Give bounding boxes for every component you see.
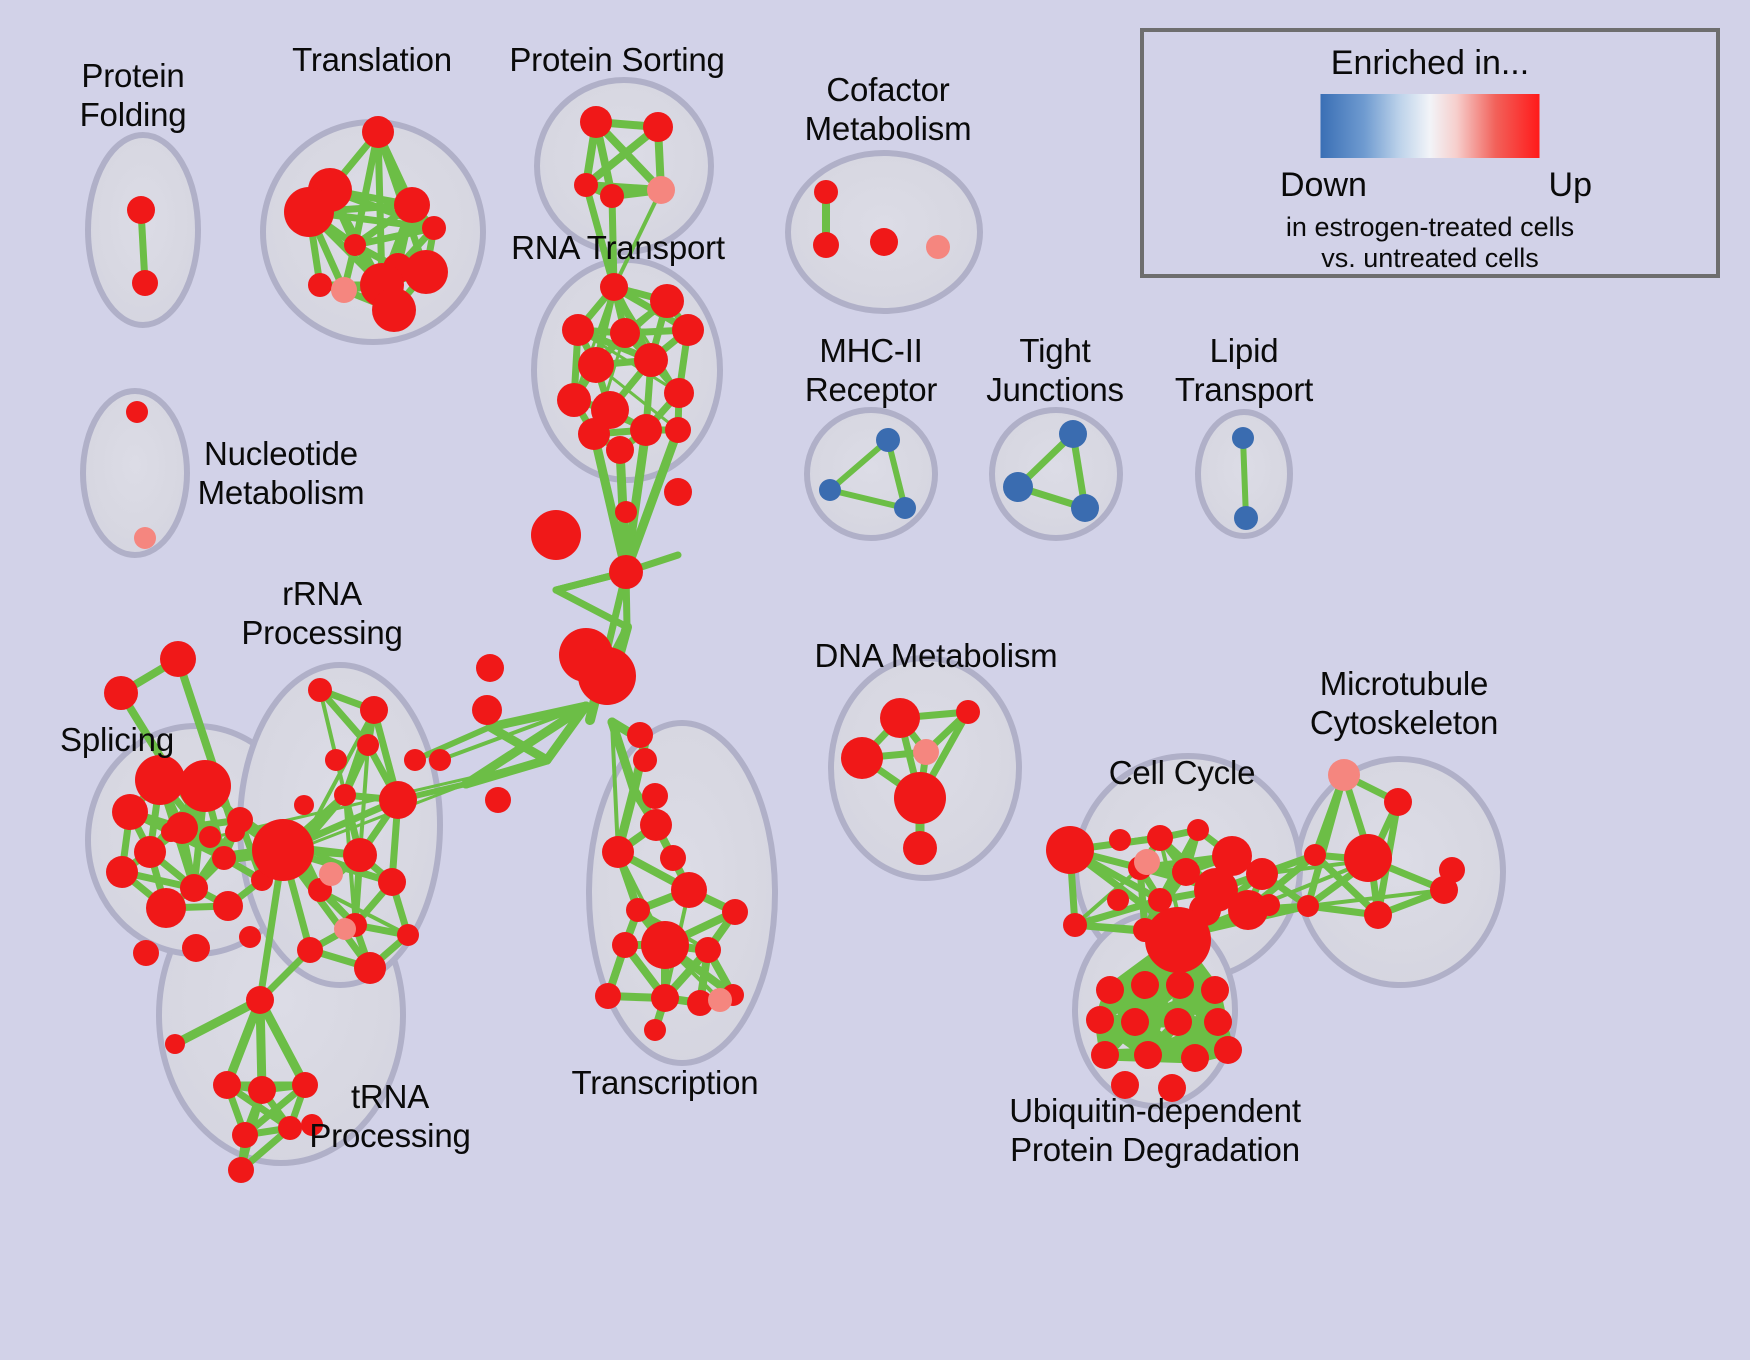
legend-sublabel: in estrogen-treated cells vs. untreated …	[1144, 212, 1716, 274]
node	[1214, 1036, 1242, 1064]
node-down	[1071, 494, 1099, 522]
node	[578, 647, 636, 705]
node	[1201, 976, 1229, 1004]
node	[814, 180, 838, 204]
cluster-label-microtubule-cytoskeleton: Microtubule Cytoskeleton	[1310, 664, 1498, 742]
node	[880, 698, 920, 738]
cluster-label-protein-folding: Protein Folding	[80, 56, 187, 134]
node	[1344, 834, 1392, 882]
node	[379, 781, 417, 819]
node	[1364, 901, 1392, 929]
node	[472, 695, 502, 725]
node	[1246, 858, 1278, 890]
node	[225, 822, 245, 842]
cluster-label-cell-cycle: Cell Cycle	[1109, 753, 1256, 792]
node	[372, 288, 416, 332]
node-weak	[1134, 849, 1160, 875]
cluster-label-nucleotide-metabolism: Nucleotide Metabolism	[198, 434, 365, 512]
node	[394, 187, 430, 223]
node	[695, 937, 721, 963]
node	[1131, 971, 1159, 999]
node	[1145, 907, 1211, 973]
node	[1148, 888, 1172, 912]
node	[640, 809, 672, 841]
cluster-label-tight-junctions: Tight Junctions	[986, 331, 1124, 409]
node	[578, 347, 614, 383]
node	[1439, 857, 1465, 883]
node	[1086, 1006, 1114, 1034]
node-down	[1059, 420, 1087, 448]
node	[165, 1034, 185, 1054]
node	[362, 116, 394, 148]
node	[615, 501, 637, 523]
node	[1107, 889, 1129, 911]
node	[630, 414, 662, 446]
node	[297, 937, 323, 963]
node	[841, 737, 883, 779]
node-down	[1232, 427, 1254, 449]
node	[1134, 1041, 1162, 1069]
node	[1091, 1041, 1119, 1069]
node	[562, 314, 594, 346]
node	[343, 838, 377, 872]
node	[634, 343, 668, 377]
node	[284, 187, 334, 237]
cluster-label-splicing: Splicing	[60, 720, 174, 759]
node	[1204, 1008, 1232, 1036]
node	[664, 478, 692, 506]
legend-color-gradient-bar	[1321, 94, 1540, 158]
node-weak	[331, 277, 357, 303]
cluster-label-rna-transport: RNA Transport	[511, 228, 725, 267]
legend-down-label: Down	[1280, 166, 1367, 205]
node	[404, 749, 426, 771]
node-weak	[319, 862, 343, 886]
node-down	[876, 428, 900, 452]
node	[651, 984, 679, 1012]
node	[378, 868, 406, 896]
node	[112, 794, 148, 830]
node	[1121, 1008, 1149, 1036]
node	[252, 819, 314, 881]
node	[722, 899, 748, 925]
node	[146, 888, 186, 928]
node-weak	[926, 235, 950, 259]
node	[650, 284, 684, 318]
node	[429, 749, 451, 771]
node	[665, 417, 691, 443]
node	[160, 641, 196, 677]
node	[1187, 819, 1209, 841]
node	[664, 378, 694, 408]
node-down	[1003, 472, 1033, 502]
node-down	[819, 479, 841, 501]
node	[813, 232, 839, 258]
node	[600, 184, 624, 208]
node	[531, 510, 581, 560]
node	[627, 722, 653, 748]
cluster-label-transcription: Transcription	[572, 1063, 759, 1102]
node	[133, 940, 159, 966]
node	[600, 273, 628, 301]
node	[1181, 1044, 1209, 1072]
node	[104, 676, 138, 710]
cluster-label-trna-processing: tRNA Processing	[309, 1077, 470, 1155]
node	[422, 216, 446, 240]
legend-title: Enriched in...	[1144, 44, 1716, 83]
cluster-ellipse-protein-sorting	[537, 80, 711, 252]
node	[354, 952, 386, 984]
node	[228, 1157, 254, 1183]
cluster-label-mhc-ii-receptor: MHC-II Receptor	[805, 331, 937, 409]
node	[476, 654, 504, 682]
node	[642, 783, 668, 809]
node	[644, 1019, 666, 1041]
node-weak	[913, 739, 939, 765]
node-weak	[134, 527, 156, 549]
cluster-label-protein-sorting: Protein Sorting	[509, 40, 724, 79]
node	[578, 418, 610, 450]
node	[179, 760, 231, 812]
node	[213, 1071, 241, 1099]
node-weak	[708, 988, 732, 1012]
node	[1304, 844, 1326, 866]
node	[580, 106, 612, 138]
node	[1147, 825, 1173, 851]
node	[1096, 976, 1124, 1004]
node	[134, 836, 166, 868]
node-weak	[334, 918, 356, 940]
node	[557, 383, 591, 417]
node	[1297, 895, 1319, 917]
node	[127, 196, 155, 224]
node-weak	[1328, 759, 1360, 791]
node	[232, 1122, 258, 1148]
node	[246, 986, 274, 1014]
node	[166, 812, 198, 844]
node	[894, 772, 946, 824]
node	[334, 784, 356, 806]
enrichment-network-figure: Protein FoldingTranslationProtein Sortin…	[0, 0, 1750, 1360]
cluster-label-rrna-processing: rRNA Processing	[241, 574, 402, 652]
node	[1063, 913, 1087, 937]
cluster-label-dna-metabolism: DNA Metabolism	[815, 636, 1058, 675]
node	[135, 755, 185, 805]
node	[671, 872, 707, 908]
node	[199, 826, 221, 848]
node	[397, 924, 419, 946]
node	[294, 795, 314, 815]
node	[1164, 1008, 1192, 1036]
node	[344, 234, 366, 256]
node	[672, 314, 704, 346]
node	[126, 401, 148, 423]
node	[182, 934, 210, 962]
node	[212, 846, 236, 870]
cluster-ellipse-mhc-ii	[807, 410, 935, 538]
node	[660, 845, 686, 871]
node	[308, 273, 332, 297]
node	[1166, 971, 1194, 999]
node	[610, 318, 640, 348]
node	[106, 856, 138, 888]
node-down	[1234, 506, 1258, 530]
node	[248, 1076, 276, 1104]
node	[180, 874, 208, 902]
node	[1109, 829, 1131, 851]
node	[643, 112, 673, 142]
node	[626, 898, 650, 922]
node	[1384, 788, 1412, 816]
node	[870, 228, 898, 256]
node	[1258, 894, 1280, 916]
node	[278, 1116, 302, 1140]
node	[606, 436, 634, 464]
node-weak	[647, 176, 675, 204]
node	[357, 734, 379, 756]
node	[609, 555, 643, 589]
node	[404, 250, 448, 294]
legend-box: Enriched in... Down Up in estrogen-treat…	[1140, 28, 1720, 278]
node	[485, 787, 511, 813]
node	[360, 696, 388, 724]
node	[1046, 826, 1094, 874]
node	[574, 173, 598, 197]
node-down	[894, 497, 916, 519]
node	[239, 926, 261, 948]
node	[308, 678, 332, 702]
node	[612, 932, 638, 958]
node	[903, 831, 937, 865]
node	[213, 891, 243, 921]
cluster-label-ubiquitin-degradation: Ubiquitin-dependent Protein Degradation	[1009, 1091, 1301, 1169]
cluster-label-translation: Translation	[292, 40, 452, 79]
legend-up-label: Up	[1549, 166, 1592, 205]
node	[325, 749, 347, 771]
node	[633, 748, 657, 772]
node	[132, 270, 158, 296]
node	[602, 836, 634, 868]
cluster-label-cofactor-metabolism: Cofactor Metabolism	[805, 70, 972, 148]
node	[595, 983, 621, 1009]
cluster-label-lipid-transport: Lipid Transport	[1175, 331, 1313, 409]
node	[641, 921, 689, 969]
node	[956, 700, 980, 724]
